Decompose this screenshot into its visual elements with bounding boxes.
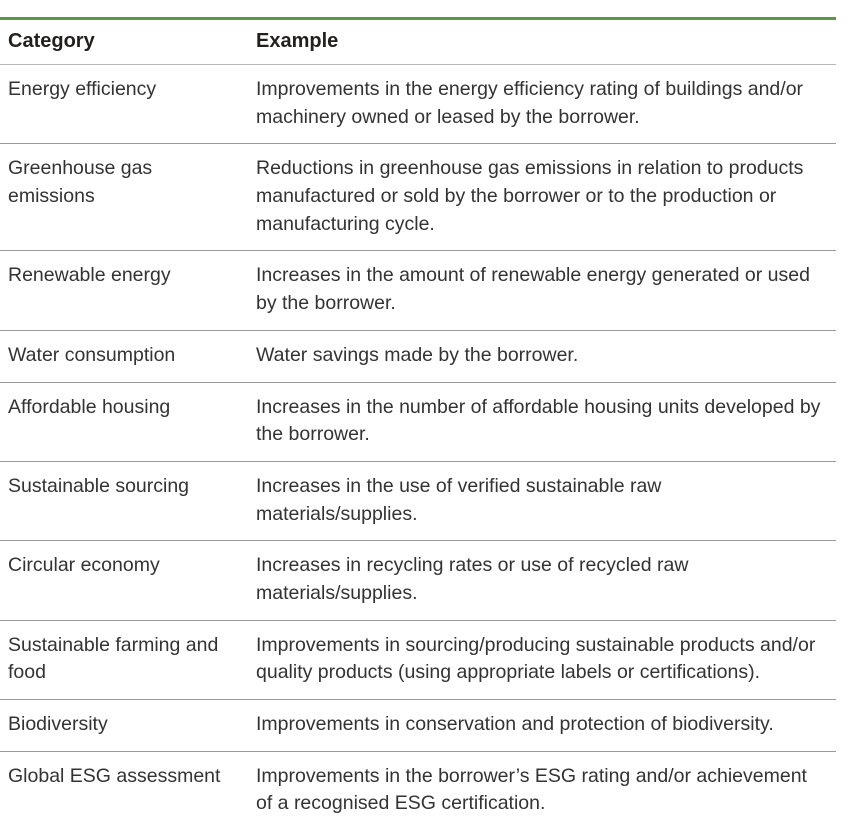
cell-example: Improvements in the borrower’s ESG ratin… bbox=[248, 751, 836, 830]
cell-example: Increases in the amount of renewable ene… bbox=[248, 251, 836, 330]
cell-category: Water consumption bbox=[0, 330, 248, 382]
table-row: Water consumptionWater savings made by t… bbox=[0, 330, 836, 382]
table-row: Renewable energyIncreases in the amount … bbox=[0, 251, 836, 330]
table-row: Affordable housingIncreases in the numbe… bbox=[0, 382, 836, 461]
cell-example: Increases in recycling rates or use of r… bbox=[248, 541, 836, 620]
kpi-category-table-container: Category Example Energy efficiencyImprov… bbox=[0, 17, 836, 830]
table-row: Energy efficiencyImprovements in the ene… bbox=[0, 65, 836, 144]
table-row: BiodiversityImprovements in conservation… bbox=[0, 700, 836, 752]
table-row: Sustainable sourcingIncreases in the use… bbox=[0, 461, 836, 540]
cell-category: Greenhouse gas emissions bbox=[0, 144, 248, 251]
cell-category: Sustainable farming and food bbox=[0, 620, 248, 699]
cell-category: Renewable energy bbox=[0, 251, 248, 330]
cell-category: Energy efficiency bbox=[0, 65, 248, 144]
column-header-category: Category bbox=[0, 20, 248, 65]
cell-category: Circular economy bbox=[0, 541, 248, 620]
cell-category: Global ESG assessment bbox=[0, 751, 248, 830]
cell-example: Increases in the number of affordable ho… bbox=[248, 382, 836, 461]
kpi-category-table: Category Example Energy efficiencyImprov… bbox=[0, 20, 836, 830]
cell-example: Reductions in greenhouse gas emissions i… bbox=[248, 144, 836, 251]
column-header-example: Example bbox=[248, 20, 836, 65]
table-row: Circular economyIncreases in recycling r… bbox=[0, 541, 836, 620]
table-row: Global ESG assessmentImprovements in the… bbox=[0, 751, 836, 830]
table-row: Sustainable farming and foodImprovements… bbox=[0, 620, 836, 699]
cell-example: Improvements in sourcing/producing susta… bbox=[248, 620, 836, 699]
cell-category: Sustainable sourcing bbox=[0, 461, 248, 540]
table-row: Greenhouse gas emissionsReductions in gr… bbox=[0, 144, 836, 251]
cell-example: Improvements in the energy efficiency ra… bbox=[248, 65, 836, 144]
table-body: Energy efficiencyImprovements in the ene… bbox=[0, 65, 836, 830]
cell-category: Affordable housing bbox=[0, 382, 248, 461]
cell-example: Water savings made by the borrower. bbox=[248, 330, 836, 382]
cell-example: Improvements in conservation and protect… bbox=[248, 700, 836, 752]
table-header: Category Example bbox=[0, 20, 836, 65]
cell-example: Increases in the use of verified sustain… bbox=[248, 461, 836, 540]
cell-category: Biodiversity bbox=[0, 700, 248, 752]
table-header-row: Category Example bbox=[0, 20, 836, 65]
